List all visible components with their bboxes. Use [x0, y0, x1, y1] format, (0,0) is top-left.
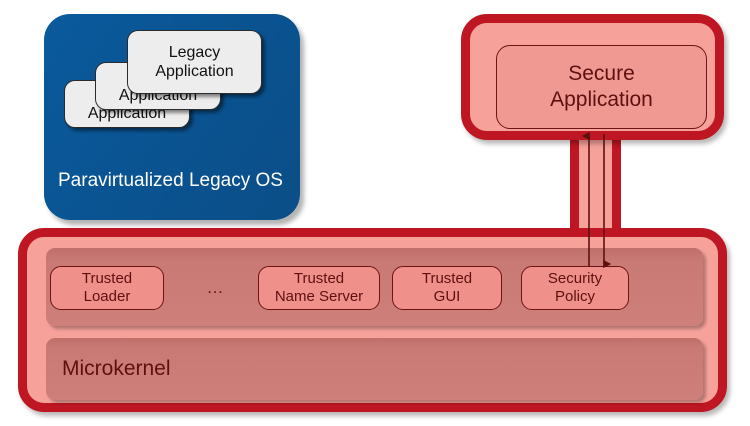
microkernel-label: Microkernel — [62, 356, 171, 382]
secure-application-line1: Secure — [550, 61, 653, 87]
trusted-name-server-box: Trusted Name Server — [258, 266, 380, 310]
trusted-name-server-line1: Trusted — [275, 270, 363, 288]
legacy-application-box-3: Legacy Application — [127, 30, 262, 94]
secure-application-line2: Application — [550, 87, 653, 113]
secure-application-container: Secure Application — [461, 14, 724, 140]
trusted-gui-line2: GUI — [422, 288, 472, 306]
services-ellipsis: … — [196, 278, 236, 302]
security-policy-box: Security Policy — [521, 266, 629, 310]
legacy-application-3-line1: Legacy — [155, 43, 233, 62]
secure-application-box: Secure Application — [496, 45, 707, 129]
legacy-os-label: Paravirtualized Legacy OS — [58, 170, 286, 192]
architecture-diagram: Paravirtualized Legacy OS Legacy Applica… — [0, 0, 750, 426]
security-policy-line2: Policy — [548, 288, 602, 306]
security-policy-line1: Security — [548, 270, 602, 288]
trusted-gui-box: Trusted GUI — [392, 266, 502, 310]
trusted-name-server-line2: Name Server — [275, 288, 363, 306]
trusted-loader-box: Trusted Loader — [50, 266, 164, 310]
legacy-application-3-line2: Application — [155, 62, 233, 81]
trusted-loader-line1: Trusted — [82, 270, 132, 288]
trusted-gui-line1: Trusted — [422, 270, 472, 288]
trusted-loader-line2: Loader — [82, 288, 132, 306]
